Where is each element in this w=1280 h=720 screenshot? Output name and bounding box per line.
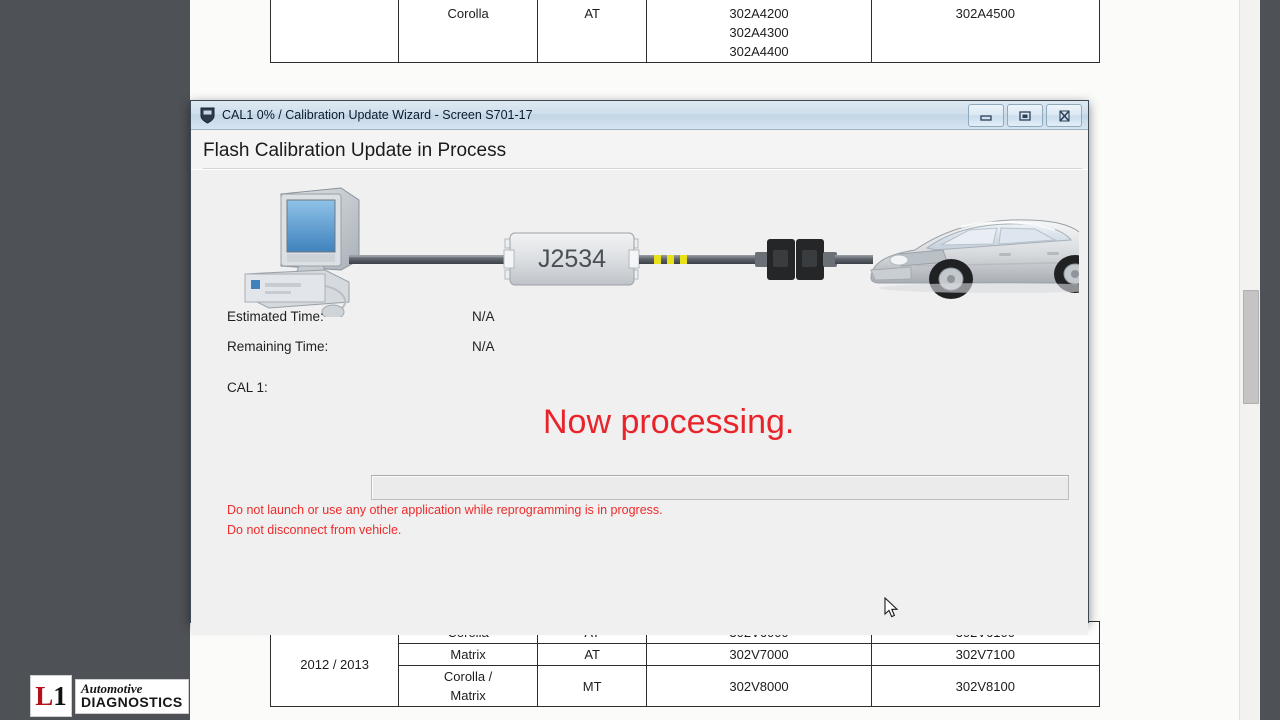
remaining-time-label: Remaining Time: xyxy=(227,339,328,354)
shield-icon xyxy=(200,107,215,124)
page-title: Flash Calibration Update in Process xyxy=(203,140,1088,168)
watermark-line-2: DIAGNOSTICS xyxy=(81,695,183,710)
estimated-time-value: N/A xyxy=(472,309,495,324)
watermark-text: Automotive DIAGNOSTICS xyxy=(75,679,189,714)
cell-transmission: AT xyxy=(537,0,646,63)
remaining-time-value: N/A xyxy=(472,339,495,354)
cal1-label: CAL 1: xyxy=(227,380,268,395)
vertical-scrollbar[interactable] xyxy=(1239,0,1260,720)
cell-previous-cal-ids: 302A4000302A4100302A4200302A4300302A4400 xyxy=(647,0,871,63)
watermark-digit: 1 xyxy=(53,683,67,710)
watermark-logo: L1 Automotive DIAGNOSTICS xyxy=(30,672,190,720)
cell-year xyxy=(271,0,399,63)
watermark-mark: L1 xyxy=(30,675,72,717)
minimize-button[interactable] xyxy=(968,104,1004,127)
cal1-progress-bar xyxy=(371,475,1069,500)
estimated-time-label: Estimated Time: xyxy=(227,309,324,324)
cell-transmission: AT xyxy=(537,644,646,666)
watermark-line-1: Automotive xyxy=(81,682,183,695)
dialog-title: CAL1 0% / Calibration Update Wizard - Sc… xyxy=(222,108,533,122)
cell-model: Corolla xyxy=(399,0,538,63)
dialog-heading-zone: Flash Calibration Update in Process xyxy=(191,130,1088,169)
cell-transmission: MT xyxy=(537,666,646,707)
calibration-update-dialog: CAL1 0% / Calibration Update Wizard - Sc… xyxy=(190,100,1089,623)
mouse-pointer xyxy=(884,597,900,619)
maximize-button[interactable] xyxy=(1007,104,1043,127)
cell-model: Corolla /Matrix xyxy=(399,666,538,707)
window-controls xyxy=(968,104,1082,127)
cell-previous-cal-id: 302V7000 xyxy=(647,644,871,666)
cell-model: Matrix xyxy=(399,644,538,666)
warning-line-2: Do not disconnect from vehicle. xyxy=(227,523,401,537)
table-row: Corolla AT 302A4000302A4100302A4200302A4… xyxy=(271,0,1100,63)
close-button[interactable] xyxy=(1046,104,1082,127)
dialog-titlebar[interactable]: CAL1 0% / Calibration Update Wizard - Sc… xyxy=(191,101,1088,130)
dialog-body: J2534 xyxy=(191,169,1088,635)
watermark-letter: L xyxy=(35,683,53,710)
status-message: Now processing. xyxy=(543,403,794,442)
scrollbar-thumb[interactable] xyxy=(1243,290,1259,404)
calibration-table-top: CALIBRATION ID CALIBRATION ID Corolla AT… xyxy=(270,0,1100,63)
svg-text:J2534: J2534 xyxy=(538,245,606,273)
cell-new-cal-id: 302V8100 xyxy=(871,666,1099,707)
cell-new-cal-id: 302V7100 xyxy=(871,644,1099,666)
cell-new-cal-id: 302A4500 xyxy=(871,0,1099,63)
reprogramming-illustration: J2534 xyxy=(199,182,1079,317)
warning-line-1: Do not launch or use any other applicati… xyxy=(227,503,663,517)
cell-previous-cal-id: 302V8000 xyxy=(647,666,871,707)
